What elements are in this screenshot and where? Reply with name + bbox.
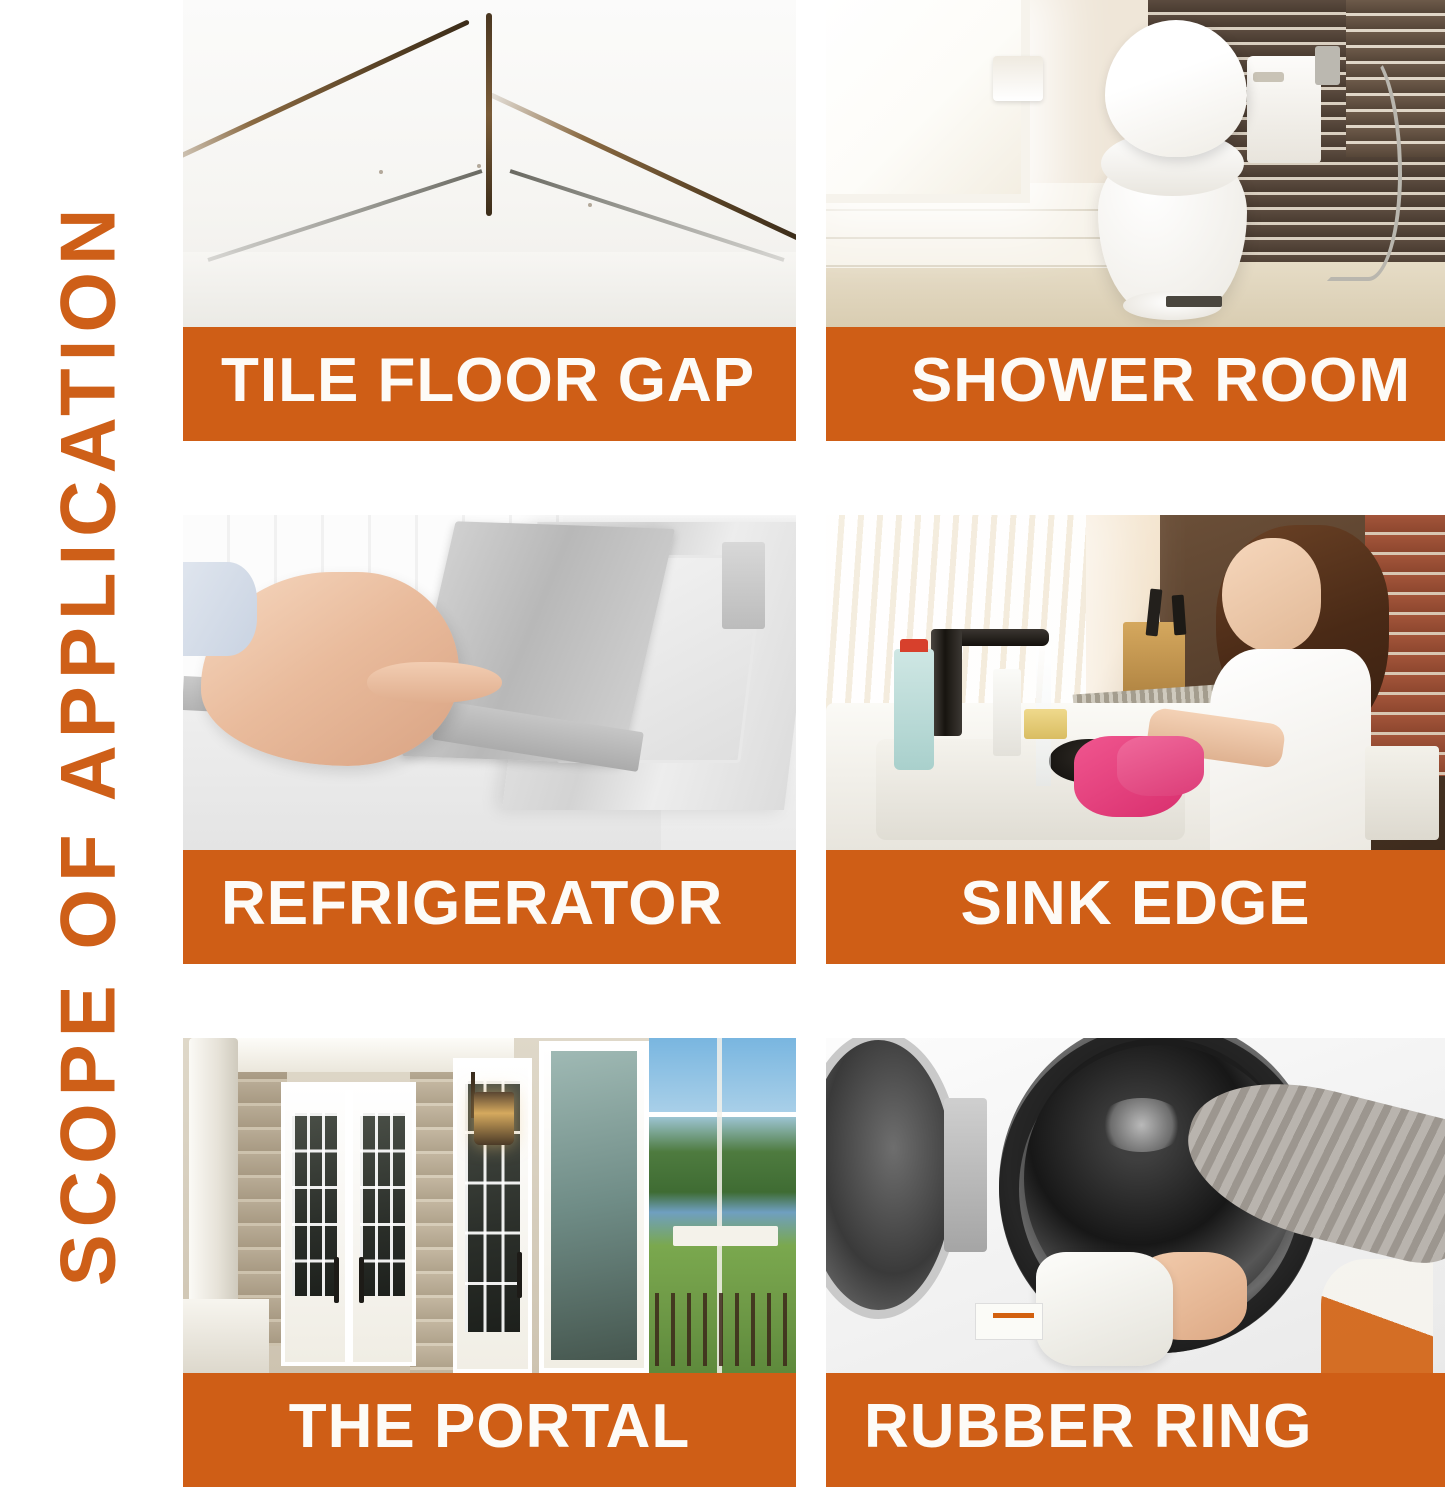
refrigerator-door-seal-photo [183,515,796,850]
refrigerator-card[interactable]: REFRIGERATOR [183,515,796,964]
door-glass-panes [360,1113,405,1296]
porch-column-base [183,1299,269,1373]
thumb [367,662,502,702]
sponge [1024,709,1067,739]
door-handle [359,1257,364,1303]
tile-ledge [183,252,796,327]
sink-edge-card[interactable]: SINK EDGE [826,515,1445,964]
deck-railing [655,1293,790,1367]
girl-head [1222,538,1321,652]
door-handle [517,1252,522,1298]
pink-rubber-glove [1117,736,1204,796]
caption-label: THE PORTAL [183,1396,796,1458]
caption-label: REFRIGERATOR [183,873,796,935]
knife-icon [1171,595,1186,636]
caption-bar: THE PORTAL [183,1373,796,1487]
shirt-sleeve [183,562,257,656]
pergola [673,1226,777,1246]
bathroom-toilet-photo [826,0,1445,327]
tile-floor-gap-card[interactable]: TILE FLOOR GAP [183,0,796,441]
scope-of-application-banner: SCOPE OF APPLICATION [0,0,175,1487]
caption-bar: SHOWER ROOM [826,327,1445,441]
bathroom-window [826,0,1030,203]
application-scope-grid: TILE FLOOR GAP SHOWER ROOM [183,0,1445,1487]
caption-label: RUBBER RING [826,1396,1445,1458]
flush-lever-icon [1253,72,1284,82]
soap-dispenser [993,669,1021,756]
grout-line-left [183,19,471,169]
caption-label: SINK EDGE [826,873,1445,935]
lantern-sconce [474,1092,514,1146]
mold-speck [588,203,592,207]
cleaning-cloth [1036,1252,1172,1366]
mold-speck [379,170,383,174]
shower-room-card[interactable]: SHOWER ROOM [826,0,1445,441]
grout-line-vertical [486,13,492,216]
washing-machine-gasket-photo [826,1038,1445,1373]
banner-text: SCOPE OF APPLICATION [49,201,127,1286]
mold-speck [477,164,481,168]
grout-line-right [488,92,796,242]
door-glass-panes [292,1113,337,1296]
spray-bottle-cap [900,639,928,652]
faucet-body [931,629,962,736]
door-hinge [944,1098,987,1252]
warning-label [1321,1259,1432,1373]
the-portal-card[interactable]: THE PORTAL [183,1038,796,1487]
caption-label: TILE FLOOR GAP [183,350,796,412]
caption-bar: SINK EDGE [826,850,1445,964]
kitchen-sink-photo [826,515,1445,850]
caption-bar: RUBBER RING [826,1373,1445,1487]
toilet-paper-holder [993,56,1043,102]
french-door-right [349,1082,416,1367]
moldy-tile-corner-photo [183,0,796,327]
french-door-left [281,1082,348,1367]
door-handle [334,1257,339,1303]
stool [1365,746,1439,840]
porch-column [189,1038,238,1319]
caption-bar: REFRIGERATOR [183,850,796,964]
caption-bar: TILE FLOOR GAP [183,327,796,441]
floor-drain [1166,296,1222,307]
washer-door [826,1038,962,1319]
rubber-ring-card[interactable]: RUBBER RING [826,1038,1445,1487]
french-doors-photo [183,1038,796,1373]
caution-sticker [975,1303,1043,1340]
door-hinge [722,542,765,629]
spray-bottle [894,649,934,770]
door-glass-large [551,1051,637,1359]
caption-label: SHOWER ROOM [826,350,1445,412]
